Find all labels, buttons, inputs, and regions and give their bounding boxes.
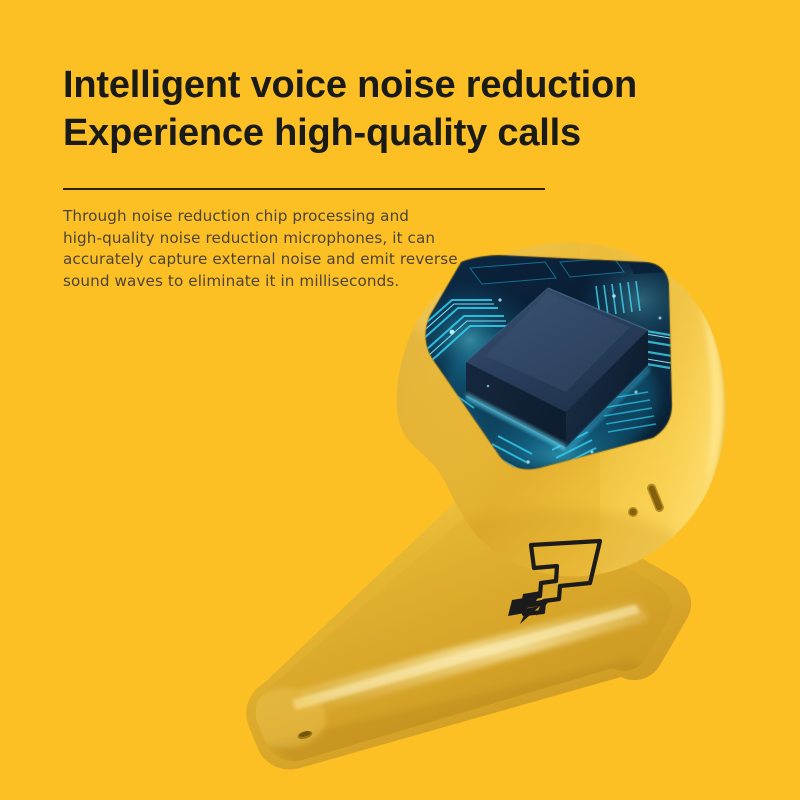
microphone-hole-upper [628,507,638,517]
headline-line-1: Intelligent voice noise reduction [63,62,723,108]
headline-divider [63,188,545,190]
headline-line-2: Experience high-quality calls [63,110,723,156]
promo-poster: Intelligent voice noise reduction Experi… [0,0,800,800]
body-line-2: high-quality noise reduction microphones… [63,228,533,250]
body-line-1: Through noise reduction chip processing … [63,206,533,228]
body-line-4: sound waves to eliminate it in milliseco… [63,271,533,293]
body-line-3: accurately capture external noise and em… [63,249,533,271]
body-copy: Through noise reduction chip processing … [63,206,533,292]
headline-block: Intelligent voice noise reduction Experi… [63,62,723,156]
